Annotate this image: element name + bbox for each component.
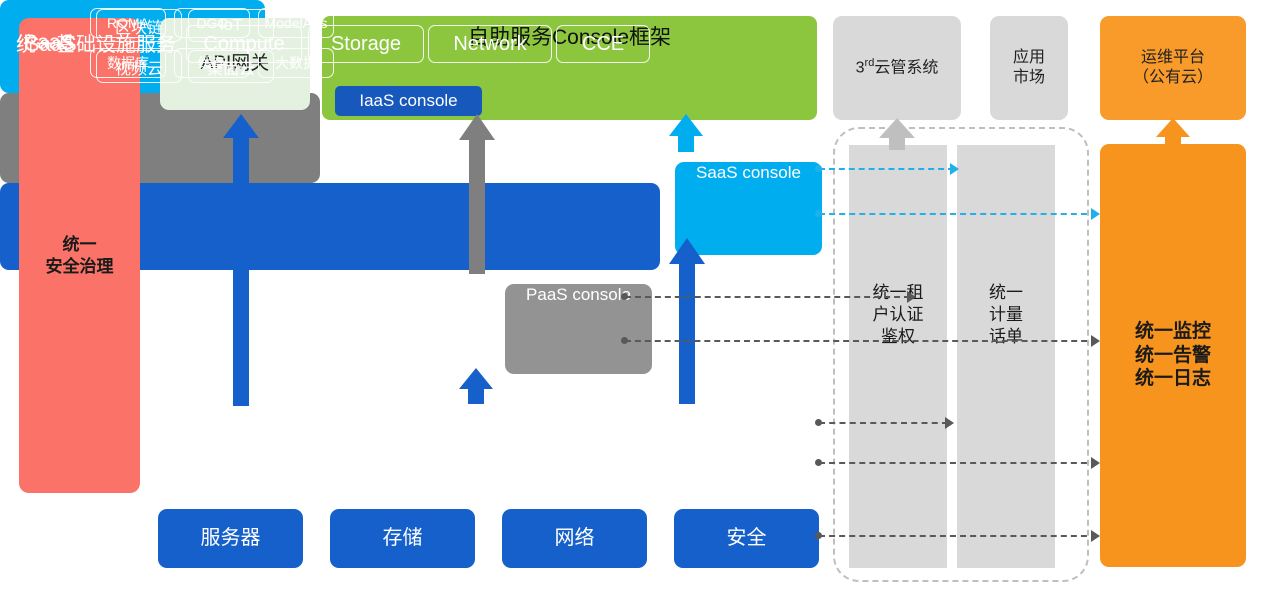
- unified-infrastructure-service-label: 统一基础设施服务: [16, 28, 176, 57]
- infra-to-ops-arrowhead: [1091, 457, 1100, 469]
- infra-tag-compute[interactable]: Compute: [186, 25, 302, 63]
- unified-tenant-auth-label: 统一租户认证鉴权: [849, 282, 947, 348]
- saas-to-auth-line: [819, 168, 954, 170]
- infra-to-auth-line: [819, 422, 948, 424]
- hardware-to-ops-line: [819, 535, 1097, 537]
- unified-security-governance-panel: 统一安全治理: [19, 18, 140, 493]
- infra-tag-cce[interactable]: CCE: [556, 25, 650, 63]
- hardware-security-box: 安全: [674, 509, 819, 568]
- paas-to-ops-line: [625, 340, 1097, 342]
- third-party-cloud-management-label: 3rd云管系统: [856, 57, 939, 78]
- arrow-infra-to-paas: [458, 368, 494, 404]
- unified-metering-column: [957, 145, 1055, 568]
- app-market-label: 应用市场: [1013, 48, 1045, 88]
- iaas-console-chip[interactable]: IaaS console: [335, 86, 482, 116]
- arrow-infra-to-saas: [668, 238, 706, 404]
- infra-tag-network[interactable]: Network: [428, 25, 552, 63]
- arrow-infra-to-api-gateway: [222, 114, 260, 406]
- arrow-paas-to-console: [458, 114, 496, 274]
- saas-to-ops-line: [819, 213, 1097, 215]
- saas-to-ops-arrowhead: [1091, 208, 1100, 220]
- unified-metering-label: 统一计量话单: [957, 282, 1055, 348]
- ops-platform-public-cloud-box: 运维平台（公有云）: [1100, 16, 1246, 120]
- unified-security-governance-label: 统一安全治理: [46, 234, 114, 277]
- hardware-to-ops-arrowhead: [1091, 530, 1100, 542]
- architecture-diagram: 统一安全治理 API网关 自助服务Console框架 IaaS console …: [0, 0, 1265, 605]
- infra-tag-storage[interactable]: Storage: [308, 25, 424, 63]
- arrow-shared-to-third-party: [878, 118, 916, 150]
- arrow-saas-to-console: [668, 114, 704, 152]
- arrow-ops-to-ops-platform: [1155, 118, 1191, 148]
- saas-to-auth-arrowhead: [950, 163, 959, 175]
- unified-tenant-auth-column: [849, 145, 947, 568]
- paas-to-auth-line: [625, 296, 910, 298]
- app-market-box: 应用市场: [990, 16, 1068, 120]
- hardware-server-box: 服务器: [158, 509, 303, 568]
- infra-to-auth-arrowhead: [945, 417, 954, 429]
- unified-monitoring-label: 统一监控统一告警统一日志: [1135, 320, 1211, 391]
- ops-platform-public-cloud-label: 运维平台（公有云）: [1133, 48, 1213, 88]
- hardware-network-box: 网络: [502, 509, 647, 568]
- paas-to-auth-arrowhead: [907, 291, 916, 303]
- unified-monitoring-panel: 统一监控统一告警统一日志: [1100, 144, 1246, 567]
- paas-to-ops-arrowhead: [1091, 335, 1100, 347]
- hardware-storage-box: 存储: [330, 509, 475, 568]
- third-party-cloud-management-box: 3rd云管系统: [833, 16, 961, 120]
- infra-to-ops-line: [819, 462, 1097, 464]
